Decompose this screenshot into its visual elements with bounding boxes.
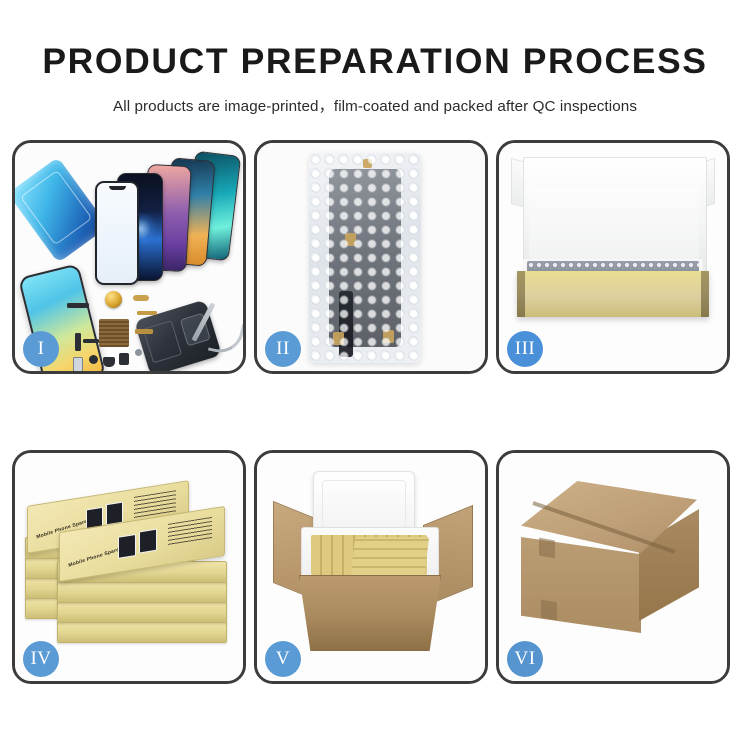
box-base-icon bbox=[517, 271, 709, 317]
process-step-2[interactable]: II bbox=[254, 140, 488, 374]
step-badge-1: I bbox=[23, 331, 59, 367]
part-sim-tray-icon bbox=[73, 357, 83, 371]
step-badge-4: IV bbox=[23, 641, 59, 677]
tape-piece-icon bbox=[333, 332, 344, 345]
packed-boxes-icon bbox=[351, 537, 429, 575]
part-connector-icon bbox=[67, 303, 89, 308]
part-cable-icon bbox=[75, 333, 81, 351]
notch-icon bbox=[109, 186, 126, 190]
stacked-box-layer bbox=[57, 621, 227, 643]
tape-piece-icon bbox=[345, 233, 356, 246]
step-badge-2: II bbox=[265, 331, 301, 367]
step-badge-6: VI bbox=[507, 641, 543, 677]
process-step-3[interactable]: III bbox=[496, 140, 730, 374]
part-gold-flex-icon bbox=[133, 295, 149, 301]
tape-piece-icon bbox=[363, 159, 372, 168]
flex-cable-icon bbox=[339, 291, 353, 357]
step-badge-3: III bbox=[507, 331, 543, 367]
copper-coil-icon bbox=[105, 291, 122, 308]
tweezers-icon bbox=[208, 318, 243, 357]
box-stack-group: Mobile Phone Spare Parts Mobile Phone Sp… bbox=[21, 471, 237, 667]
process-step-1[interactable]: I bbox=[12, 140, 246, 374]
page-subtitle: All products are image-printed，film-coat… bbox=[0, 82, 750, 116]
box-label-lines bbox=[168, 517, 212, 547]
part-gold-strip-icon bbox=[137, 311, 157, 315]
part-contact-icon bbox=[135, 329, 153, 334]
carton-tape-icon bbox=[541, 600, 557, 621]
part-module-icon bbox=[119, 353, 129, 365]
carton-tape-icon bbox=[539, 538, 555, 559]
carton-body-icon bbox=[299, 575, 441, 651]
stacked-box-layer bbox=[57, 581, 227, 603]
foam-pad-icon bbox=[529, 187, 699, 269]
part-button-icon bbox=[89, 355, 98, 364]
process-step-6[interactable]: VI bbox=[496, 450, 730, 684]
box-label-photo bbox=[139, 529, 157, 554]
part-speaker-icon bbox=[103, 357, 115, 367]
box-label-photo bbox=[118, 534, 136, 559]
chip-array-icon bbox=[99, 319, 129, 347]
step-badge-5: V bbox=[265, 641, 301, 677]
phone-fan-group bbox=[93, 151, 243, 281]
process-step-5[interactable]: V bbox=[254, 450, 488, 684]
stacked-box-layer bbox=[57, 601, 227, 623]
process-step-grid: I II III bbox=[12, 140, 738, 684]
tape-piece-icon bbox=[383, 330, 394, 343]
page-title: PRODUCT PREPARATION PROCESS bbox=[0, 0, 750, 82]
part-bracket-icon bbox=[83, 339, 99, 343]
process-step-4[interactable]: Mobile Phone Spare Parts Mobile Phone Sp… bbox=[12, 450, 246, 684]
page-header: PRODUCT PREPARATION PROCESS All products… bbox=[0, 0, 750, 116]
bubble-wrap-bag-icon bbox=[309, 153, 421, 363]
tempered-glass-icon bbox=[95, 181, 139, 285]
part-screw-icon bbox=[135, 349, 142, 356]
